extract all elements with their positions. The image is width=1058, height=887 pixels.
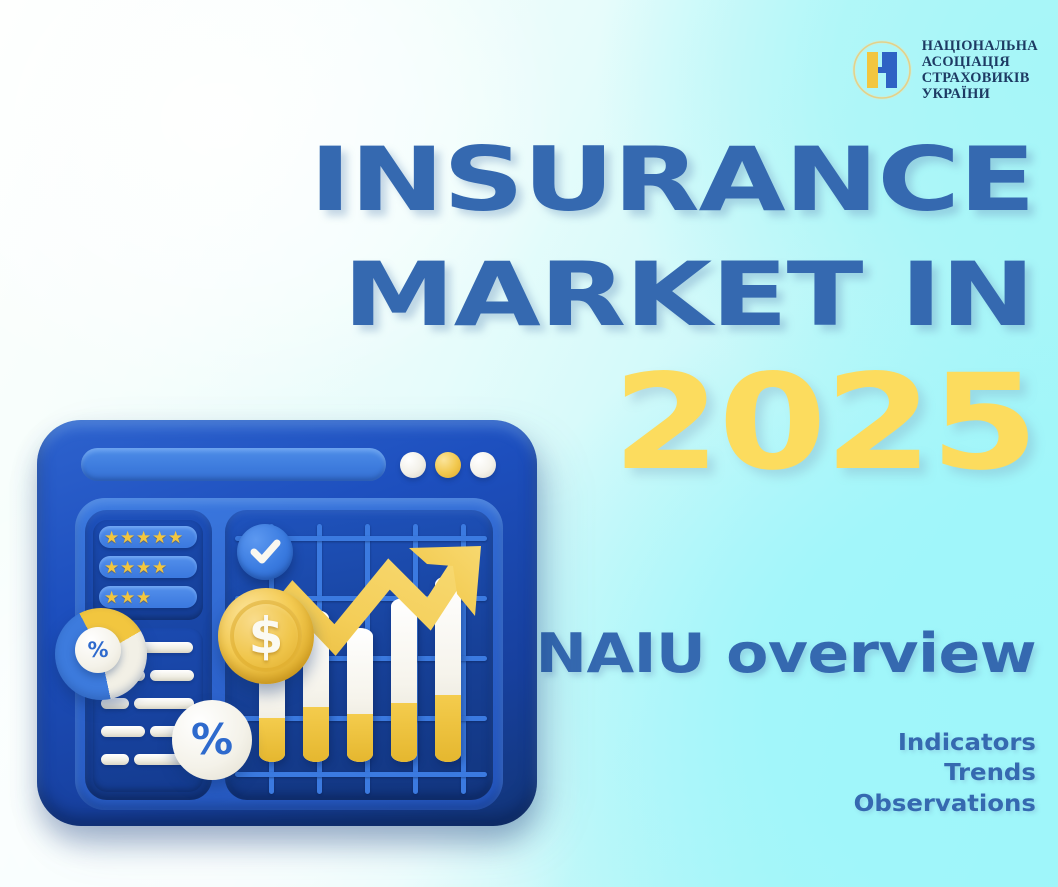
- star-icon: ★: [120, 530, 135, 545]
- pie-chart: %: [55, 608, 147, 700]
- naiu-logo-text: Національна Асоціація Страховиків Україн…: [922, 38, 1038, 103]
- headline-line-2: MARKET IN: [343, 243, 1034, 346]
- star-icon: ★: [104, 530, 119, 545]
- logo-line-4: України: [922, 86, 1038, 102]
- bullet-item-indicators: Indicators: [854, 728, 1036, 758]
- list-bar: [101, 754, 129, 765]
- rating-row-5-stars: ★ ★ ★ ★ ★: [99, 526, 197, 548]
- list-bar: [150, 670, 194, 681]
- check-badge: [237, 524, 293, 580]
- headline-line-1: INSURANCE: [309, 128, 1034, 231]
- year-title: 2025: [612, 357, 1036, 489]
- bullet-item-observations: Observations: [854, 789, 1036, 819]
- star-icon: ★: [120, 560, 135, 575]
- pie-percent-badge: %: [75, 627, 121, 673]
- poster-canvas: Національна Асоціація Страховиків Україн…: [0, 0, 1058, 887]
- star-icon: ★: [104, 590, 119, 605]
- window-dot-white-right: [470, 452, 496, 478]
- star-icon: ★: [152, 530, 167, 545]
- dollar-sign: $: [230, 600, 302, 672]
- naiu-logo-mark-icon: [851, 39, 913, 101]
- naiu-logo: Національна Асоціація Страховиків Україн…: [851, 38, 1038, 103]
- star-icon: ★: [120, 590, 135, 605]
- star-icon: ★: [136, 560, 151, 575]
- dollar-coin: $: [218, 588, 314, 684]
- window-dot-yellow: [435, 452, 461, 478]
- grid-line-horizontal: [235, 772, 487, 777]
- list-bar: [101, 726, 145, 737]
- subtitle: NAIU overview: [536, 622, 1036, 685]
- star-icon: ★: [168, 530, 183, 545]
- bullet-item-trends: Trends: [854, 758, 1036, 788]
- star-icon: ★: [136, 530, 151, 545]
- dashboard-illustration: ★ ★ ★ ★ ★ ★ ★ ★ ★ ★: [22, 412, 552, 832]
- rating-row-3-stars: ★ ★ ★: [99, 586, 197, 608]
- rating-row-4-stars: ★ ★ ★ ★: [99, 556, 197, 578]
- logo-line-3: Страховиків: [922, 70, 1038, 86]
- logo-line-2: Асоціація: [922, 54, 1038, 70]
- percent-badge: %: [172, 700, 252, 780]
- star-icon: ★: [136, 590, 151, 605]
- ratings-group: ★ ★ ★ ★ ★ ★ ★ ★ ★ ★: [93, 520, 203, 620]
- check-icon: [248, 535, 282, 569]
- bullet-list: Indicators Trends Observations: [854, 728, 1036, 819]
- star-icon: ★: [152, 560, 167, 575]
- search-bar: [81, 448, 386, 481]
- logo-line-1: Національна: [922, 38, 1038, 54]
- window-dot-white-left: [400, 452, 426, 478]
- star-icon: ★: [104, 560, 119, 575]
